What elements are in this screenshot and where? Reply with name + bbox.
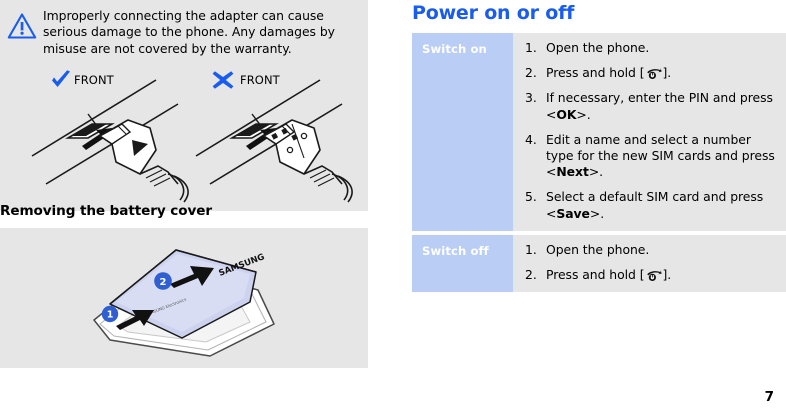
- warning-triangle-icon: [7, 12, 37, 40]
- page-number: 7: [765, 389, 774, 405]
- left-column: Improperly connecting the adapter can ca…: [0, 0, 368, 415]
- warning-note: Improperly connecting the adapter can ca…: [4, 8, 364, 57]
- table-row: Switch offOpen the phone.Press and hold …: [412, 235, 786, 292]
- row-label: Switch on: [412, 33, 513, 231]
- svg-text:2: 2: [160, 277, 167, 288]
- step-list: Open the phone.Press and hold [].: [525, 242, 778, 283]
- step-list: Open the phone.Press and hold [].If nece…: [525, 40, 778, 222]
- page-title: Power on or off: [412, 2, 574, 24]
- row-steps: Open the phone.Press and hold [].If nece…: [513, 33, 786, 231]
- battery-cover-panel: SAMSUNG SAMSUNG Electronics 1 2: [0, 228, 368, 368]
- step-item: Press and hold [].: [525, 65, 778, 81]
- step-badge-2: 2: [154, 272, 172, 290]
- softkey-label: Save: [556, 206, 590, 221]
- power-on-off-table: Switch onOpen the phone.Press and hold […: [412, 33, 786, 292]
- adapter-incorrect-illustration: [192, 78, 364, 206]
- step-item: Press and hold [].: [525, 267, 778, 283]
- step-item: Edit a name and select a number type for…: [525, 132, 778, 181]
- step-badge-1: 1: [102, 306, 118, 322]
- step-item: Open the phone.: [525, 242, 778, 258]
- softkey-label: Next: [556, 164, 589, 179]
- phone-battery-cover-illustration: SAMSUNG SAMSUNG Electronics 1 2: [44, 228, 334, 368]
- warning-panel: Improperly connecting the adapter can ca…: [0, 0, 368, 211]
- power-key-icon: [646, 67, 662, 80]
- step-item: Open the phone.: [525, 40, 778, 56]
- warning-text: Improperly connecting the adapter can ca…: [43, 8, 359, 57]
- row-label: Switch off: [412, 235, 513, 292]
- row-steps: Open the phone.Press and hold [].: [513, 235, 786, 292]
- step-item: Select a default SIM card and press <Sav…: [525, 189, 778, 221]
- adapter-correct-illustration: [28, 78, 200, 206]
- softkey-label: OK: [556, 107, 576, 122]
- power-key-icon: [646, 269, 662, 282]
- right-column: Power on or off Switch onOpen the phone.…: [412, 0, 786, 415]
- table-row: Switch onOpen the phone.Press and hold […: [412, 33, 786, 231]
- battery-cover-heading: Removing the battery cover: [0, 203, 212, 219]
- step-item: If necessary, enter the PIN and press <O…: [525, 90, 778, 122]
- svg-text:1: 1: [107, 310, 114, 321]
